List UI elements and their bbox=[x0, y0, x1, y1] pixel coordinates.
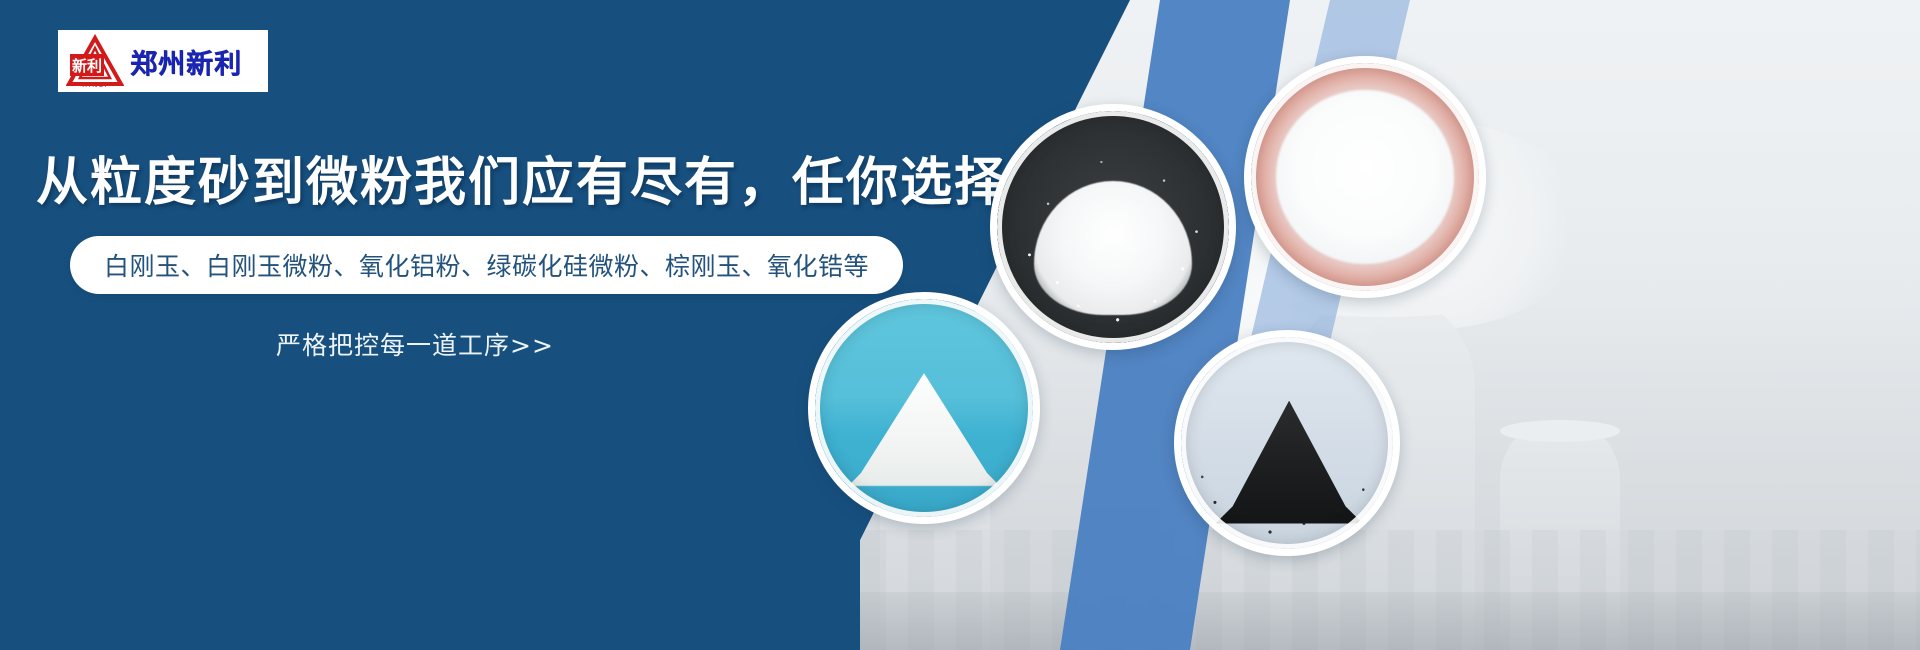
headline: 从粒度砂到微粉我们应有尽有，任你选择 bbox=[36, 140, 1008, 215]
product-circle-white-fused-alumina-grit[interactable] bbox=[990, 104, 1236, 350]
tagline-link[interactable]: 严格把控每一道工序>> bbox=[276, 326, 554, 362]
xinli-triangle-icon: 新利 XINLI bbox=[66, 34, 124, 88]
promo-banner: 新利 XINLI 郑州新利 从粒度砂到微粉我们应有尽有，任你选择 白刚玉、白刚玉… bbox=[0, 0, 1920, 650]
tray-rim bbox=[1181, 337, 1393, 549]
svg-text:XINLI: XINLI bbox=[82, 81, 108, 88]
product-list-text: 白刚玉、白刚玉微粉、氧化铝粉、绿碳化硅微粉、棕刚玉、氧化锆等 bbox=[104, 247, 869, 283]
svg-text:新利: 新利 bbox=[72, 57, 102, 75]
product-circle-white-powder-heap[interactable] bbox=[808, 292, 1040, 524]
product-list-pill: 白刚玉、白刚玉微粉、氧化铝粉、绿碳化硅微粉、棕刚玉、氧化锆等 bbox=[70, 236, 903, 294]
product-circle-black-silicon-carbide[interactable] bbox=[1174, 330, 1400, 556]
tray-rim bbox=[997, 111, 1229, 343]
product-circle-alumina-micro-powder[interactable] bbox=[1244, 56, 1486, 298]
tray-rim bbox=[1251, 63, 1479, 291]
company-logo[interactable]: 新利 XINLI 郑州新利 bbox=[58, 30, 268, 92]
company-name: 郑州新利 bbox=[130, 42, 242, 81]
tray-rim bbox=[815, 299, 1033, 517]
